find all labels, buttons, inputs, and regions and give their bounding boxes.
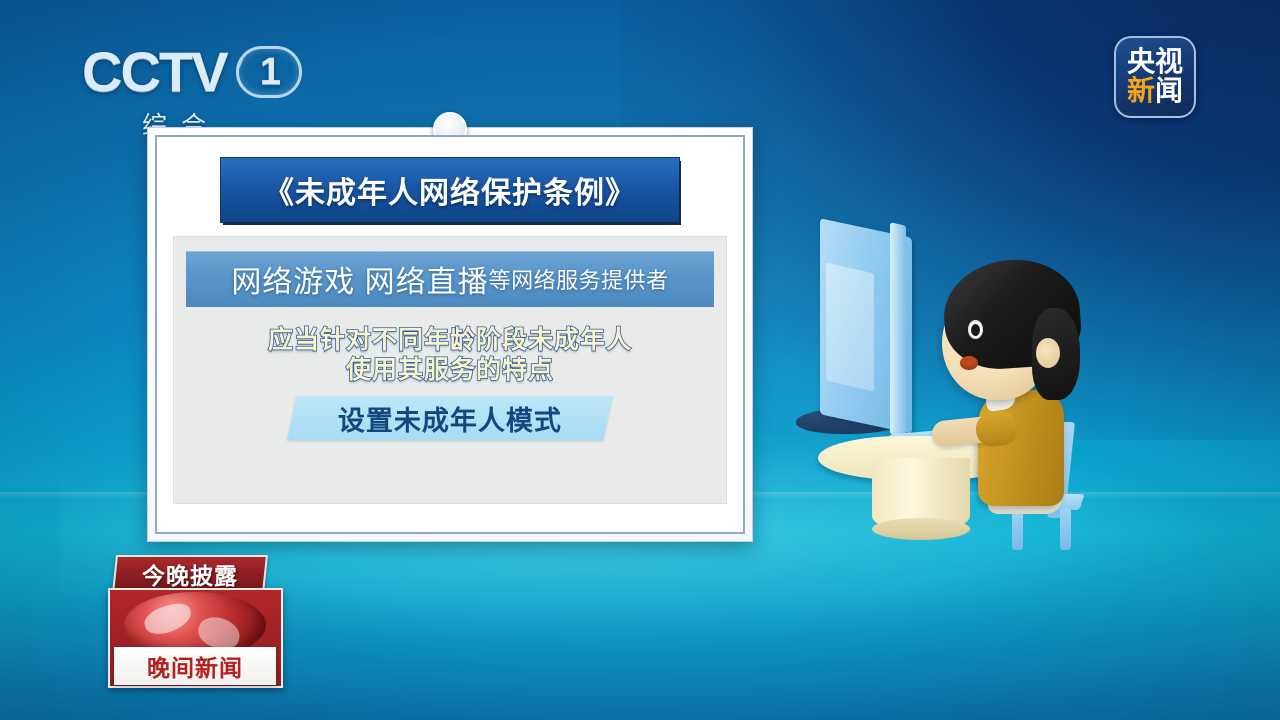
service-provider-band: 网络游戏 网络直播 等网络服务提供者 xyxy=(186,251,714,307)
lower-third-bar: 今晚披露 晚间新闻 《未成年人网络保护条例》 明年起施行 合理限制未成年人单次和… xyxy=(0,552,1280,692)
infographic-content-area: 网络游戏 网络直播 等网络服务提供者 应当针对不同年龄阶段未成年人 使用其服务的… xyxy=(173,236,727,504)
figure-ear xyxy=(1036,338,1060,368)
cctv1-channel-logo: CCTV 1 综合 xyxy=(82,44,312,140)
news-badge-text-bottom: 闻 xyxy=(1155,77,1183,106)
news-badge-text-accent: 新 xyxy=(1127,77,1155,106)
news-badge-text-top: 央视 xyxy=(1127,48,1183,77)
monitor-front-edge xyxy=(890,222,906,437)
regulation-title-text: 《未成年人网络保护条例》 xyxy=(264,168,636,212)
action-chip-wrap: 设置未成年人模式 xyxy=(186,396,714,440)
slash-divider-icon xyxy=(236,46,251,98)
requirement-text-block: 应当针对不同年龄阶段未成年人 使用其服务的特点 xyxy=(186,326,714,385)
panel-body: 《未成年人网络保护条例》 网络游戏 网络直播 等网络服务提供者 应当针对不同年龄… xyxy=(157,137,743,532)
program-name-label: 晚间新闻 xyxy=(147,649,243,683)
chair-leg-back xyxy=(1060,508,1071,550)
cctv-letters: CCTV xyxy=(82,44,226,100)
requirement-line-1: 应当针对不同年龄阶段未成年人 xyxy=(186,326,714,356)
minor-mode-chip-text: 设置未成年人模式 xyxy=(338,399,562,438)
channel-number-badge: 1 xyxy=(236,46,302,98)
figure-mouth xyxy=(960,356,978,370)
cctv-news-badge: 央视 新 闻 xyxy=(1114,36,1196,118)
monitor-screen xyxy=(826,262,874,391)
program-badge: 今晚披露 晚间新闻 xyxy=(108,555,283,688)
service-providers-text: 等网络服务提供者 xyxy=(489,263,669,295)
chair-leg-front xyxy=(1012,508,1023,550)
service-types-text: 网络游戏 网络直播 xyxy=(231,257,488,301)
desk-column-base xyxy=(872,518,970,540)
infographic-panel: 《未成年人网络保护条例》 网络游戏 网络直播 等网络服务提供者 应当针对不同年龄… xyxy=(147,127,753,542)
figure-eye xyxy=(968,320,983,339)
news-badge-row-2: 新 闻 xyxy=(1127,77,1183,106)
news-badge-row-1: 央视 xyxy=(1127,48,1183,77)
minor-mode-chip: 设置未成年人模式 xyxy=(287,396,612,440)
program-name-plate: 晚间新闻 xyxy=(114,647,276,685)
person-at-computer-illustration xyxy=(790,222,1100,552)
program-tab-label: 今晚披露 xyxy=(142,557,238,591)
broadcast-frame: CCTV 1 综合 央视 新 闻 《未成年人网络保护条例》 网络游戏 网 xyxy=(0,0,1280,720)
channel-number: 1 xyxy=(260,53,279,91)
requirement-line-2: 使用其服务的特点 xyxy=(186,356,714,386)
regulation-title-banner: 《未成年人网络保护条例》 xyxy=(221,158,679,222)
cctv-wordmark: CCTV 1 xyxy=(82,44,312,100)
